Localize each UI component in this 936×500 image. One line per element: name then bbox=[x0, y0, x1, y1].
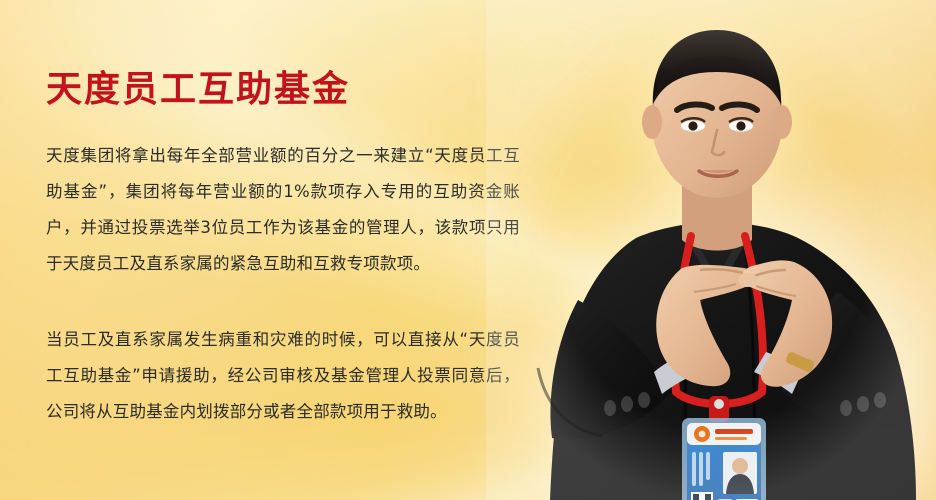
paragraph-1: 天度集团将拿出每年全部营业额的百分之一来建立“天度员工互助基金”，集团将每年营业… bbox=[46, 138, 520, 282]
paragraph-2: 当员工及直系家属发生病重和灾难的时候，可以直接从“天度员工互助基金”申请援助，经… bbox=[46, 322, 520, 430]
page-title: 天度员工互助基金 bbox=[46, 68, 350, 112]
promo-banner: 天度员工互助基金 天度集团将拿出每年全部营业额的百分之一来建立“天度员工互助基金… bbox=[0, 0, 936, 500]
employee-photo bbox=[486, 0, 936, 500]
